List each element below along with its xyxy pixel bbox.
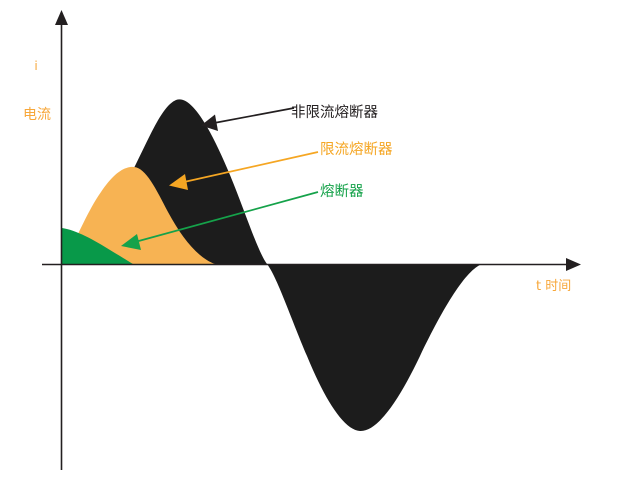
figure-canvas: i 电流 t 时间 非限流熔断器 限流熔断器 熔断器 bbox=[0, 0, 632, 485]
current-limiting-fuse-diagram bbox=[0, 0, 632, 485]
y-axis-label: i 电流 bbox=[23, 30, 49, 153]
label-limiting-fuse: 限流熔断器 bbox=[320, 138, 393, 159]
x-axis-arrowhead bbox=[566, 258, 581, 271]
label-non-limiting-fuse: 非限流熔断器 bbox=[291, 101, 378, 122]
y-axis-symbol: i bbox=[23, 60, 49, 74]
y-axis-arrowhead bbox=[55, 10, 68, 25]
label-fuse: 熔断器 bbox=[320, 180, 364, 201]
callout-arrow-non-limiting bbox=[201, 108, 294, 131]
y-axis-name: 电流 bbox=[23, 108, 49, 124]
x-axis-label: t 时间 bbox=[536, 280, 571, 295]
